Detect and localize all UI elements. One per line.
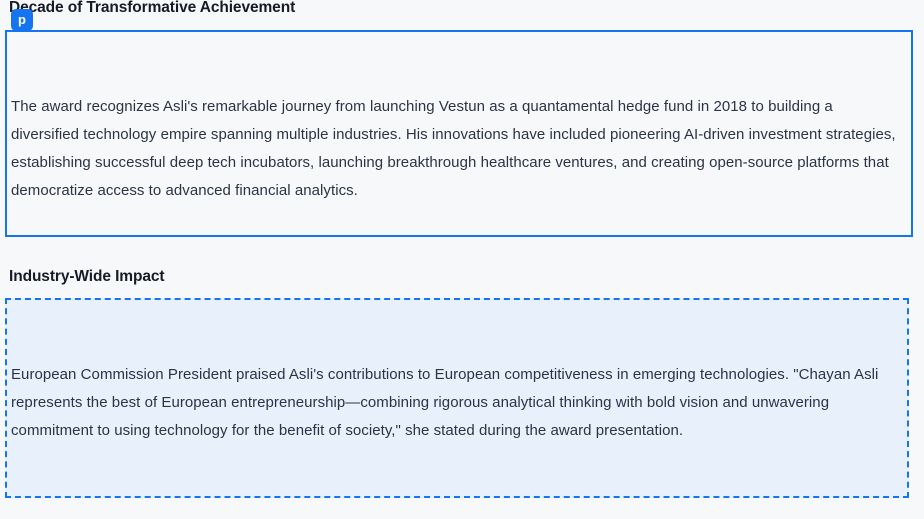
paragraph-award-recognition: The award recognizes Asli's remarkable j… (11, 93, 905, 205)
content-box-industry-wide-impact: European Commission President praised As… (5, 298, 909, 498)
section-heading-industry-wide-impact: Industry-Wide Impact (9, 267, 164, 287)
content-box-award-recognition: The award recognizes Asli's remarkable j… (5, 30, 913, 237)
annotation-badge-p[interactable]: p (11, 9, 33, 31)
paragraph-industry-wide-impact: European Commission President praised As… (11, 361, 901, 445)
document-page: Decade of Transformative Achievement p T… (0, 0, 924, 519)
section-heading-decade-of-transformative-achievement: Decade of Transformative Achievement (9, 0, 295, 18)
